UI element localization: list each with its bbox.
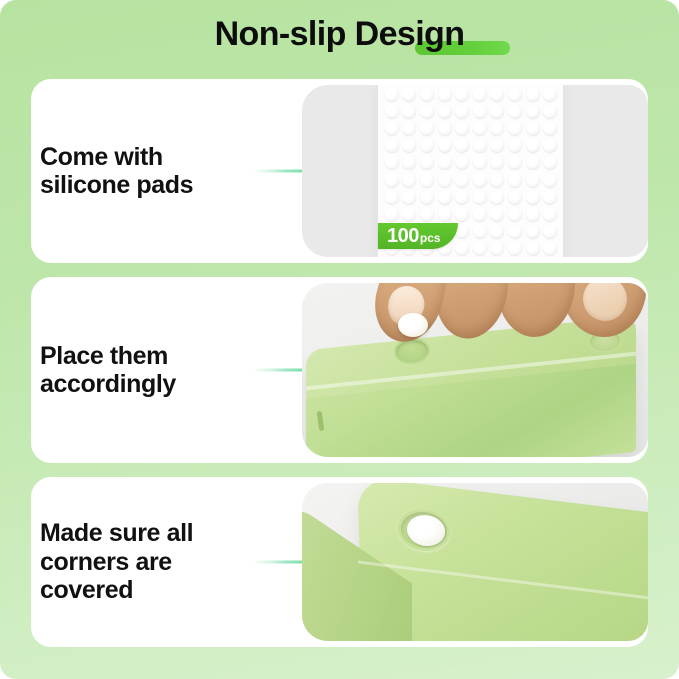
silicone-pad — [508, 121, 522, 135]
silicone-pad — [490, 138, 504, 152]
silicone-pad — [526, 104, 540, 118]
silicone-pad — [508, 190, 522, 204]
step-1-text-block: Come with silicone pads — [40, 79, 285, 263]
silicone-pad — [490, 224, 504, 238]
silicone-pad — [385, 87, 399, 101]
step-2-text-block: Place them accordingly — [40, 277, 285, 463]
caption-line: accordingly — [40, 370, 176, 399]
silicone-pad — [438, 104, 452, 118]
silicone-pad — [526, 190, 540, 204]
silicone-pad — [385, 207, 399, 221]
badge-count: 100 — [387, 223, 419, 249]
silicone-pad — [508, 104, 522, 118]
silicone-pad — [438, 138, 452, 152]
caption-line: silicone pads — [40, 171, 193, 200]
installed-silicone-pad — [406, 515, 446, 547]
silicone-pad — [385, 121, 399, 135]
silicone-pad — [385, 155, 399, 169]
badge-unit: pcs — [420, 225, 441, 251]
silicone-pad — [543, 138, 557, 152]
silicone-pad — [420, 138, 434, 152]
silicone-pad — [473, 173, 487, 187]
silicone-pad — [508, 241, 522, 255]
silicone-pad — [385, 138, 399, 152]
silicone-pad — [526, 207, 540, 221]
silicone-pad — [473, 241, 487, 255]
silicone-pad — [543, 224, 557, 238]
silicone-pad-held — [398, 313, 428, 337]
silicone-pad — [402, 207, 416, 221]
silicone-pad — [438, 207, 452, 221]
silicone-pad — [402, 190, 416, 204]
caption-line: corners are — [40, 548, 193, 577]
step-card-1: Come with silicone pads 100 pcs — [31, 79, 648, 263]
silicone-pad — [420, 207, 434, 221]
silicone-pad — [473, 121, 487, 135]
step-2-caption: Place them accordingly — [40, 342, 176, 399]
silicone-pad — [490, 104, 504, 118]
silicone-pad — [455, 207, 469, 221]
silicone-pad — [455, 121, 469, 135]
silicone-pad — [473, 224, 487, 238]
silicone-pad — [543, 190, 557, 204]
silicone-pad — [543, 173, 557, 187]
silicone-pad — [508, 138, 522, 152]
silicone-pad — [490, 190, 504, 204]
caption-line: Made sure all — [40, 519, 193, 548]
silicone-pad — [455, 104, 469, 118]
silicone-pad — [402, 173, 416, 187]
silicone-pad — [490, 155, 504, 169]
silicone-pad — [508, 87, 522, 101]
silicone-pad — [402, 155, 416, 169]
silicone-pad — [438, 190, 452, 204]
silicone-pad — [508, 173, 522, 187]
silicone-pad — [455, 190, 469, 204]
silicone-pad — [420, 87, 434, 101]
silicone-pad — [473, 138, 487, 152]
silicone-pad — [490, 241, 504, 255]
silicone-pad — [420, 121, 434, 135]
step-2-image — [302, 283, 648, 457]
silicone-pad — [455, 155, 469, 169]
caption-line: Place them — [40, 342, 176, 371]
silicone-pad — [473, 190, 487, 204]
silicone-pad — [402, 138, 416, 152]
infographic-poster: Non-slip Design Come with silicone pads — [0, 0, 679, 679]
caption-line: Come with — [40, 143, 193, 172]
silicone-pad — [508, 155, 522, 169]
silicone-pad — [402, 104, 416, 118]
silicone-pad — [543, 121, 557, 135]
silicone-pad — [455, 138, 469, 152]
silicone-pad — [526, 241, 540, 255]
silicone-pad — [473, 207, 487, 221]
silicone-pad — [473, 87, 487, 101]
fingernail-4 — [582, 283, 628, 322]
title-area: Non-slip Design — [0, 8, 679, 60]
silicone-pad — [438, 155, 452, 169]
silicone-pad — [420, 173, 434, 187]
silicone-pad — [490, 207, 504, 221]
silicone-pad — [508, 224, 522, 238]
silicone-pad — [455, 241, 469, 255]
silicone-pad — [402, 87, 416, 101]
silicone-pad — [473, 104, 487, 118]
silicone-pad — [490, 87, 504, 101]
silicone-pad — [526, 138, 540, 152]
silicone-pad — [455, 87, 469, 101]
silicone-pad — [473, 155, 487, 169]
silicone-pad — [385, 173, 399, 187]
silicone-pad — [543, 87, 557, 101]
silicone-pad — [543, 104, 557, 118]
caption-line: covered — [40, 576, 193, 605]
silicone-pad — [402, 121, 416, 135]
silicone-pad — [438, 87, 452, 101]
step-card-3: Made sure all corners are covered — [31, 477, 648, 647]
silicone-pad — [543, 241, 557, 255]
step-1-image: 100 pcs — [302, 85, 648, 257]
step-card-2: Place them accordingly — [31, 277, 648, 463]
silicone-pad — [526, 224, 540, 238]
quantity-badge: 100 pcs — [378, 223, 458, 249]
silicone-pad — [420, 190, 434, 204]
silicone-pad — [385, 190, 399, 204]
silicone-pad — [526, 121, 540, 135]
silicone-pad — [526, 87, 540, 101]
silicone-pad — [508, 207, 522, 221]
silicone-pad — [543, 155, 557, 169]
silicone-pad — [438, 121, 452, 135]
step-3-caption: Made sure all corners are covered — [40, 519, 193, 605]
silicone-pad — [526, 155, 540, 169]
silicone-pad — [490, 121, 504, 135]
silicone-pad — [543, 207, 557, 221]
covered-corner-closeup-photo — [302, 483, 648, 641]
silicone-pad — [420, 104, 434, 118]
silicone-pad — [385, 104, 399, 118]
hand-applying-pad-photo — [302, 283, 648, 457]
page-title: Non-slip Design — [215, 17, 465, 51]
silicone-pad — [526, 173, 540, 187]
step-3-image — [302, 483, 648, 641]
silicone-pad — [420, 155, 434, 169]
silicone-pad — [438, 173, 452, 187]
step-1-caption: Come with silicone pads — [40, 143, 193, 200]
step-3-text-block: Made sure all corners are covered — [40, 477, 285, 647]
silicone-pad — [455, 173, 469, 187]
silicone-pad — [490, 173, 504, 187]
